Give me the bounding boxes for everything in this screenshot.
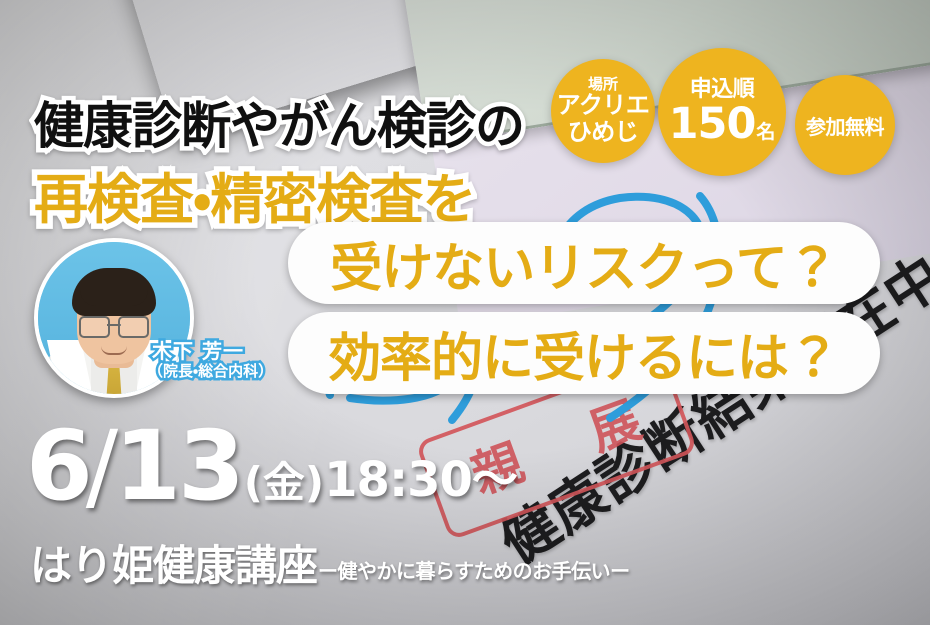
poster-canvas: 健康診断結果票在中 親 展 健康診断やがん検診の 再検査・精密検査を 受けないリ… [0,0,930,625]
speaker-role: （院長・総合内科） [148,360,273,381]
badge-venue-label: 場所 [588,76,618,93]
question-bubble-2: 効率的に受けるには？ [288,312,880,394]
event-day: 13 [114,425,242,508]
event-datetime: 6 / 13 (金) 18:30 〜 [26,425,518,508]
question-bubble-1: 受けないリスクって？ [288,222,880,304]
badge-capacity-value: 150 名 [669,103,776,146]
event-day-of-week: (金) [244,462,324,508]
badge-free-admission-label: 参加無料 [806,111,884,140]
event-month: 6 [26,425,90,508]
question-bubble-2-text: 効率的に受けるには？ [329,316,839,391]
event-time-suffix: 〜 [472,456,518,508]
series-footer: はり姫健康講座 ー健やかに暮らすためのお手伝いー [30,545,630,587]
series-title: はり姫健康講座 [30,545,317,587]
series-subtitle: ー健やかに暮らすためのお手伝いー [318,555,630,587]
badge-venue: 場所 アクリエ ひめじ [551,59,655,163]
headline-line-1: 健康診断やがん検診の [34,86,524,158]
badge-capacity-number: 150 [669,103,756,146]
badge-venue-line2: ひめじ [568,119,639,146]
badge-venue-line1: アクリエ [557,92,650,119]
question-bubble-1-text: 受けないリスクって？ [330,226,837,301]
event-time: 18:30 [324,456,472,508]
badge-free-admission: 参加無料 [795,75,895,175]
glasses-icon [79,316,149,336]
badge-capacity: 申込順 150 名 [658,48,786,176]
badge-capacity-unit: 名 [756,117,775,144]
